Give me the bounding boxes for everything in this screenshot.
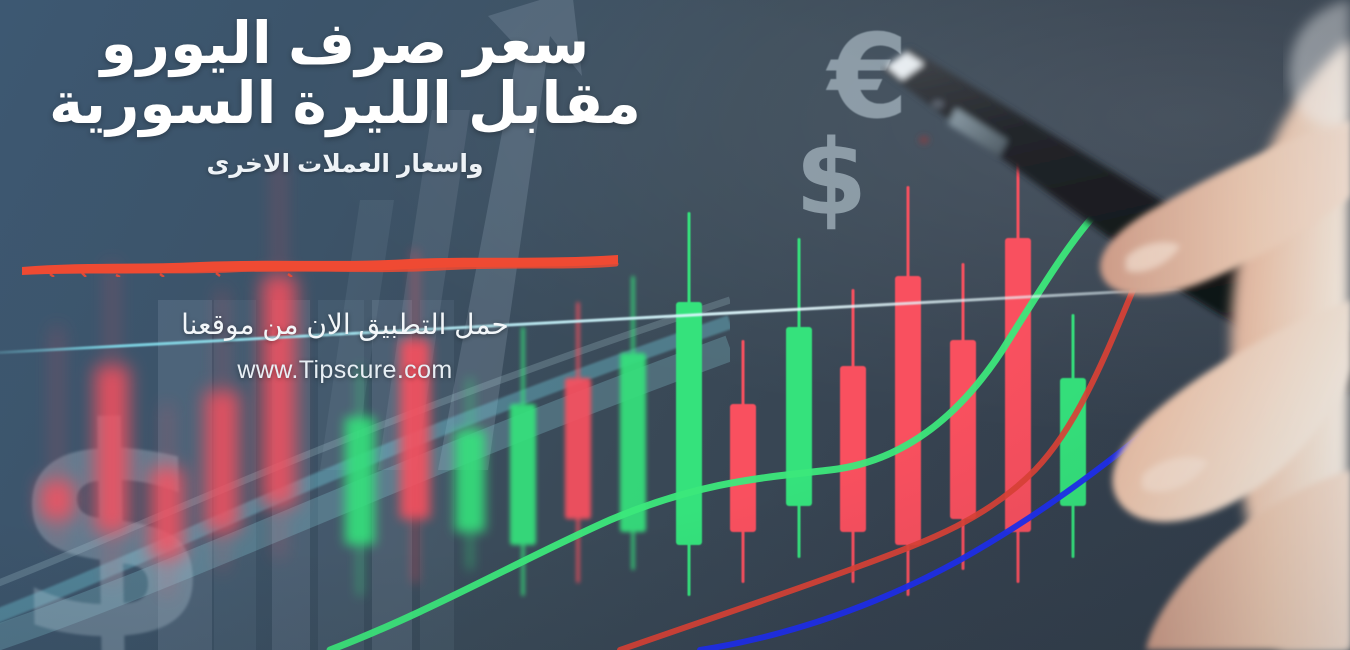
red-brush-divider <box>20 251 620 277</box>
title-line-2: مقابل الليرة السورية <box>0 74 690 134</box>
candlestick-body <box>150 468 184 558</box>
candlestick <box>786 238 812 558</box>
candlestick-body <box>786 327 812 506</box>
candlestick <box>150 404 184 596</box>
candlestick-body <box>345 417 375 545</box>
banner-root: $ € $ <box>0 0 1350 650</box>
candlestick-body <box>840 366 866 532</box>
candlestick-body <box>40 481 74 519</box>
headline-block: سعر صرف اليورو مقابل الليرة السورية واسع… <box>0 0 690 420</box>
title-line-1: سعر صرف اليورو <box>0 0 690 74</box>
candlestick <box>730 340 756 583</box>
website-url[interactable]: www.Tipscure.com <box>0 356 690 385</box>
cta-text: حمل التطبيق الان من موقعنا <box>0 308 690 341</box>
page-title: سعر صرف اليورو مقابل الليرة السورية <box>0 0 690 133</box>
candlestick-body <box>455 430 485 532</box>
hand-with-pen-photo <box>880 0 1350 650</box>
candlestick-body <box>510 404 536 545</box>
subtitle: واسعار العملات الاخرى <box>0 149 690 179</box>
candlestick-body <box>730 404 756 532</box>
candlestick <box>840 289 866 583</box>
